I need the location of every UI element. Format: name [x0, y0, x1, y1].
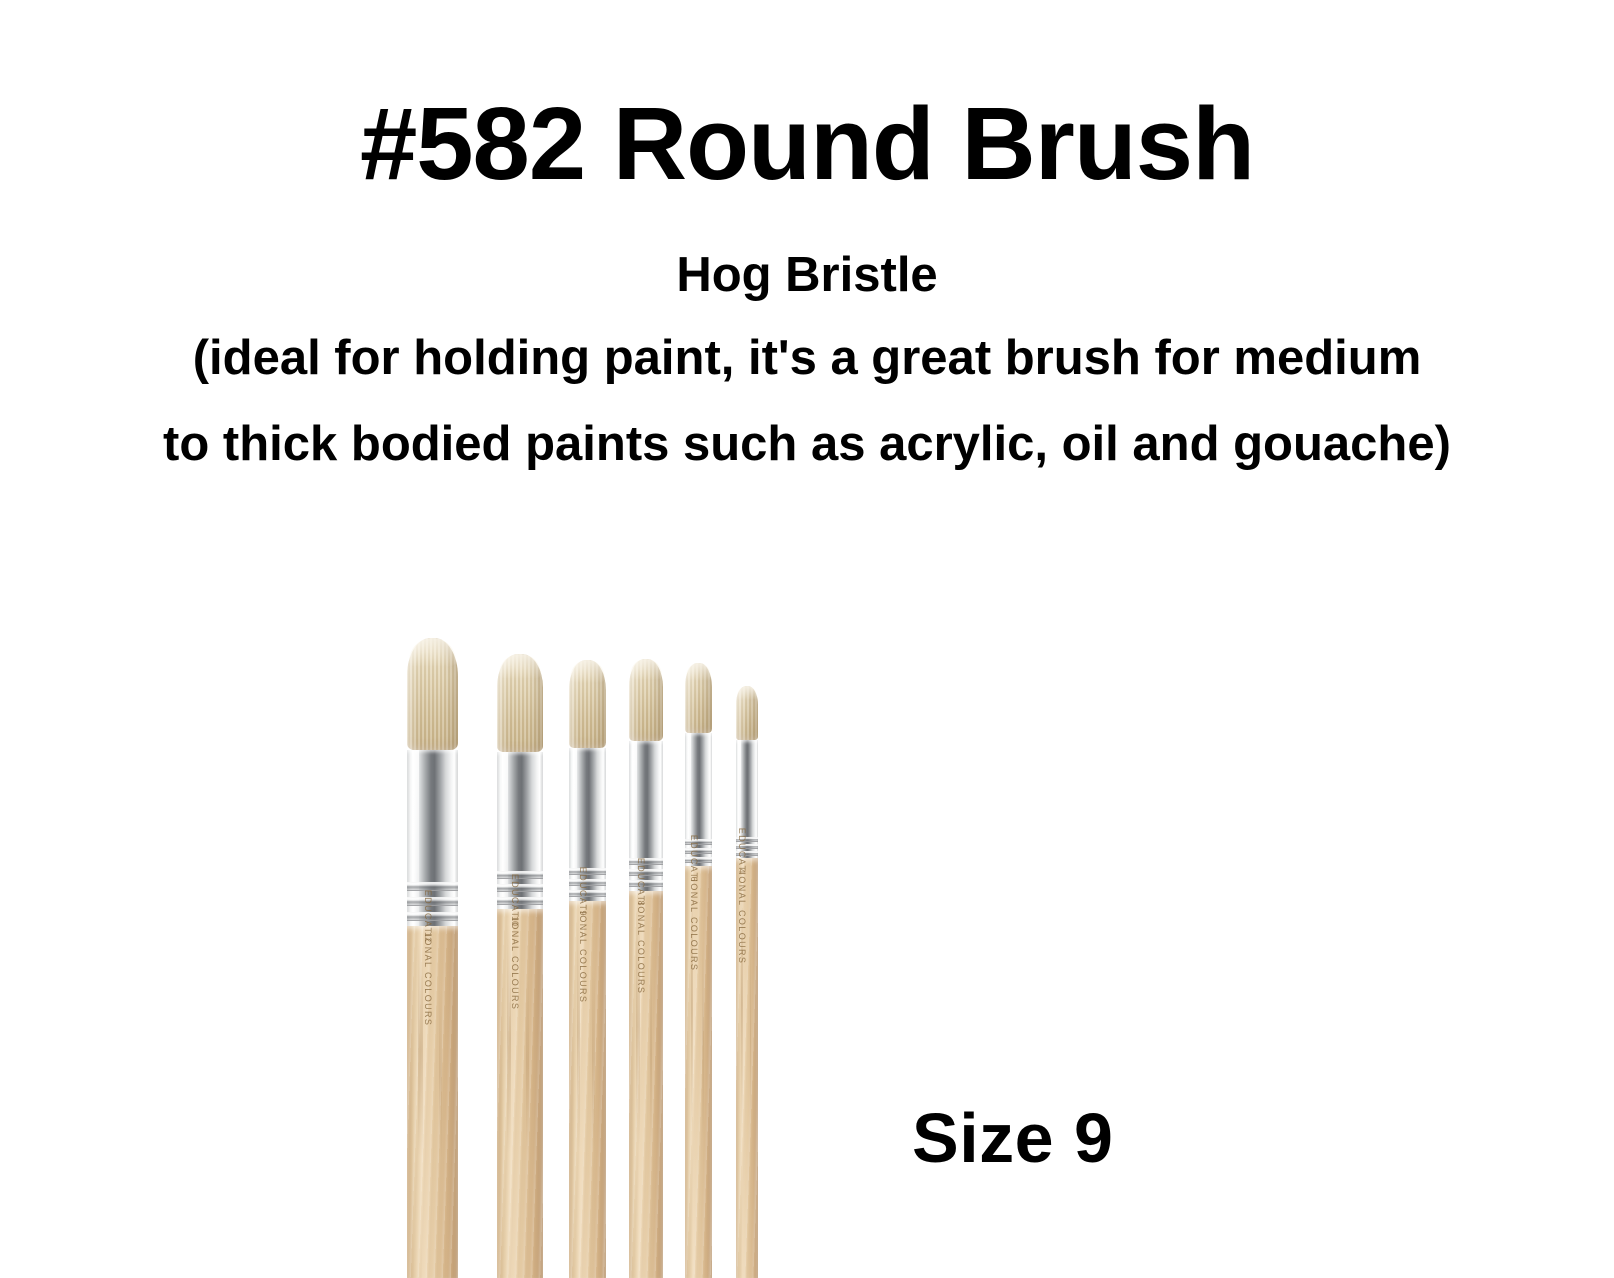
handle-brand-imprint: EDUCATIONAL COLOURS [578, 867, 588, 1004]
brush-handle: 9EDUCATIONAL COLOURS [569, 901, 606, 1278]
brush-2: 10EDUCATIONAL COLOURS [497, 654, 543, 1278]
brush-1-largest: 12EDUCATIONAL COLOURS [407, 638, 458, 1278]
handle-brand-imprint: EDUCATIONAL COLOURS [423, 889, 433, 1026]
product-image-canvas: #582 Round Brush Hog Bristle (ideal for … [0, 0, 1614, 1278]
ferrule-crimp-ring [629, 880, 663, 887]
size-caption: Size 9 [912, 1098, 1113, 1178]
brush-3: 9EDUCATIONAL COLOURS [569, 660, 606, 1278]
brush-ferrule [629, 741, 663, 891]
brush-handle: 10EDUCATIONAL COLOURS [497, 909, 543, 1278]
brush-bristles [736, 686, 758, 740]
handle-brand-imprint: EDUCATIONAL COLOURS [510, 874, 520, 1011]
handle-brand-imprint: EDUCATIONAL COLOURS [737, 827, 747, 964]
brush-5: 6EDUCATIONAL COLOURS [685, 663, 712, 1278]
brush-handle: 12EDUCATIONAL COLOURS [407, 926, 458, 1278]
ferrule-crimp-ring [497, 897, 543, 905]
wood-grain-streak [750, 934, 752, 1136]
wood-grain-streak [650, 961, 652, 1147]
wood-grain-streak [526, 975, 529, 1152]
brush-bristles [497, 654, 543, 752]
brush-4: 8EDUCATIONAL COLOURS [629, 659, 663, 1278]
brush-handle: 4EDUCATIONAL COLOURS [736, 858, 758, 1278]
brush-bristles [569, 660, 606, 748]
brush-bristles [407, 638, 458, 750]
brush-ferrule [497, 752, 543, 909]
ferrule-crimp-ring [497, 884, 543, 892]
ferrule-crimp-ring [629, 869, 663, 876]
ferrule-crimp-ring [497, 871, 543, 879]
brush-6-smallest: 4EDUCATIONAL COLOURS [736, 686, 758, 1278]
ferrule-crimp-rings [497, 871, 543, 909]
wood-grain-streak [439, 989, 443, 1158]
brush-bristles [685, 663, 712, 733]
brush-handle: 6EDUCATIONAL COLOURS [685, 866, 712, 1278]
ferrule-crimp-rings [629, 858, 663, 891]
ferrule-crimp-ring [629, 858, 663, 865]
brush-handle: 8EDUCATIONAL COLOURS [629, 891, 663, 1278]
handle-brand-imprint: EDUCATIONAL COLOURS [689, 835, 699, 972]
wood-grain-streak [702, 940, 704, 1138]
handle-brand-imprint: EDUCATIONAL COLOURS [636, 858, 646, 995]
wood-grain-streak [592, 969, 595, 1150]
brush-bristles [629, 659, 663, 741]
brush-photo-group: 12EDUCATIONAL COLOURS10EDUCATIONAL COLOU… [0, 0, 1614, 1278]
